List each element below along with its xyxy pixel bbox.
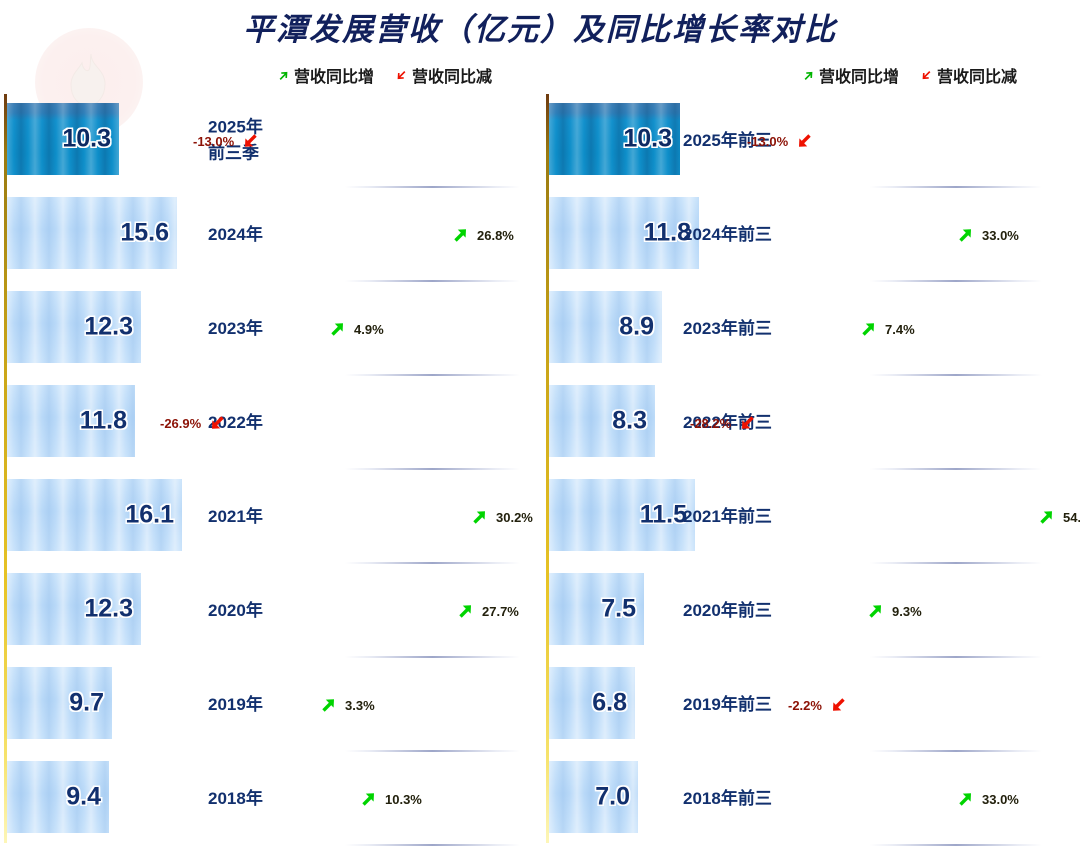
bar-value-label: 12.3: [84, 313, 133, 342]
growth-percent-label: 9.3%: [892, 604, 922, 619]
category-label-line1: 2024年: [208, 225, 263, 244]
rows-right: 10.32025年前三-13.0%11.82024年前三33.0%8.92023…: [520, 94, 1080, 843]
growth-marker: 9.3%: [865, 601, 922, 621]
arrow-up-right-green-icon: [450, 225, 470, 245]
arrow-up-right-green-icon: [278, 70, 289, 81]
category-label: 2021年前三: [683, 504, 772, 530]
category-label: 2018年: [208, 786, 263, 812]
chart-row: 11.82024年前三33.0%: [520, 188, 1080, 282]
arrow-down-left-red-icon: [396, 70, 407, 81]
growth-percent-label: 27.7%: [482, 604, 519, 619]
arrow-up-right-green-icon: [858, 319, 878, 339]
bar-value-label: 6.8: [592, 689, 627, 718]
category-label: 2023年前三: [683, 316, 772, 342]
chart-row: 9.72019年3.3%: [0, 658, 520, 752]
value-bar: 11.8: [549, 197, 699, 269]
chart-row: 12.32023年4.9%: [0, 282, 520, 376]
arrow-down-left-red-icon: [208, 413, 228, 433]
value-bar: 8.3: [549, 385, 655, 457]
category-label: 2023年: [208, 316, 263, 342]
growth-marker: 3.3%: [318, 695, 375, 715]
chart-row: 7.52020年前三9.3%: [520, 564, 1080, 658]
chart-row: 12.32020年27.7%: [0, 564, 520, 658]
bar-value-label: 16.1: [125, 501, 174, 530]
arrow-up-right-green-icon: [358, 789, 378, 809]
arrow-up-right-green-icon: [955, 789, 975, 809]
category-label: 2020年前三: [683, 598, 772, 624]
chart-row: 11.82022年-26.9%: [0, 376, 520, 470]
value-bar: 16.1: [7, 479, 182, 551]
bar-value-label: 9.7: [69, 689, 104, 718]
category-label-line1: 2019年前三: [683, 695, 772, 714]
chart-row: 9.42018年10.3%: [0, 752, 520, 846]
panel-annual: 营收同比增 营收同比减 10.32025年前三季-13.0%15.62024年2…: [0, 56, 520, 843]
value-bar: 11.8: [7, 385, 135, 457]
arrow-down-left-red-icon: [738, 413, 758, 433]
category-label-line1: 2020年: [208, 601, 263, 620]
bar-value-label: 11.8: [80, 407, 127, 436]
bar-value-label: 9.4: [66, 783, 101, 812]
legend-label-up: 营收同比增: [294, 63, 374, 87]
chart-row: 8.32022年前三-28.2%: [520, 376, 1080, 470]
arrow-up-right-green-icon: [865, 601, 885, 621]
growth-percent-label: -13.0%: [747, 134, 788, 149]
legend-left: 营收同比增 营收同比减: [278, 56, 492, 94]
value-bar: 9.7: [7, 667, 112, 739]
bar-value-label: 11.5: [640, 501, 687, 530]
growth-marker: 33.0%: [955, 225, 1019, 245]
category-label-line1: 2021年: [208, 507, 263, 526]
arrow-down-left-red-icon: [921, 70, 932, 81]
page-title: 平潭发展营收（亿元）及同比增长率对比: [0, 4, 1080, 49]
legend-label-up: 营收同比增: [819, 63, 899, 87]
arrow-up-right-green-icon: [455, 601, 475, 621]
arrow-down-left-red-icon: [241, 131, 261, 151]
arrow-up-right-green-icon: [1036, 507, 1056, 527]
value-bar: 12.3: [7, 291, 141, 363]
legend-label-down: 营收同比减: [412, 63, 492, 87]
growth-percent-label: -2.2%: [788, 698, 822, 713]
growth-marker: 4.9%: [327, 319, 384, 339]
arrow-up-right-green-icon: [955, 225, 975, 245]
axis-line-right: [546, 94, 549, 843]
chart-row: 10.32025年前三-13.0%: [520, 94, 1080, 188]
bar-value-label: 10.3: [623, 125, 672, 154]
category-label: 2024年前三: [683, 222, 772, 248]
panel-first-three-quarters: 营收同比增 营收同比减 10.32025年前三-13.0%11.82024年前三…: [520, 56, 1080, 843]
legend-label-down: 营收同比减: [937, 63, 1017, 87]
growth-percent-label: 7.4%: [885, 322, 915, 337]
category-label-line1: 2019年: [208, 695, 263, 714]
rows-left: 10.32025年前三季-13.0%15.62024年26.8%12.32023…: [0, 94, 520, 843]
bar-value-label: 7.5: [601, 595, 636, 624]
chart-row: 7.02018年前三33.0%: [520, 752, 1080, 846]
chart-row: 10.32025年前三季-13.0%: [0, 94, 520, 188]
bar-value-label: 15.6: [120, 219, 169, 248]
legend-item-down: 营收同比减: [921, 63, 1017, 87]
legend-item-down: 营收同比减: [396, 63, 492, 87]
arrow-up-right-green-icon: [318, 695, 338, 715]
legend-item-up: 营收同比增: [278, 63, 374, 87]
value-bar: 15.6: [7, 197, 177, 269]
growth-marker: -2.2%: [788, 695, 849, 715]
growth-percent-label: 3.3%: [345, 698, 375, 713]
growth-marker: -13.0%: [747, 131, 815, 151]
chart-row: 16.12021年30.2%: [0, 470, 520, 564]
value-bar: 9.4: [7, 761, 109, 833]
growth-marker: -28.2%: [690, 413, 758, 433]
value-bar: 8.9: [549, 291, 662, 363]
value-bar: 7.0: [549, 761, 638, 833]
arrow-down-left-red-icon: [829, 695, 849, 715]
legend-item-up: 营收同比增: [803, 63, 899, 87]
value-bar: 10.3: [7, 103, 119, 175]
growth-percent-label: 10.3%: [385, 792, 422, 807]
category-label-line1: 2018年: [208, 789, 263, 808]
growth-marker: 27.7%: [455, 601, 519, 621]
value-bar: 12.3: [7, 573, 141, 645]
growth-percent-label: -26.9%: [160, 416, 201, 431]
category-label: 2024年: [208, 222, 263, 248]
growth-marker: 10.3%: [358, 789, 422, 809]
arrow-down-left-red-icon: [795, 131, 815, 151]
bar-value-label: 10.3: [62, 125, 111, 154]
chart-panels: 营收同比增 营收同比减 10.32025年前三季-13.0%15.62024年2…: [0, 56, 1080, 843]
bar-value-label: 8.9: [619, 313, 654, 342]
bar-value-label: 12.3: [84, 595, 133, 624]
growth-marker: 26.8%: [450, 225, 514, 245]
value-bar: 10.3: [549, 103, 680, 175]
growth-percent-label: -13.0%: [193, 134, 234, 149]
category-label: 2020年: [208, 598, 263, 624]
chart-row: 15.62024年26.8%: [0, 188, 520, 282]
arrow-up-right-green-icon: [327, 319, 347, 339]
chart-row: 6.82019年前三-2.2%: [520, 658, 1080, 752]
growth-percent-label: 54.3%: [1063, 510, 1080, 525]
value-bar: 11.5: [549, 479, 695, 551]
category-label: 2018年前三: [683, 786, 772, 812]
chart-row: 11.52021年前三54.3%: [520, 470, 1080, 564]
growth-percent-label: 33.0%: [982, 792, 1019, 807]
growth-percent-label: 33.0%: [982, 228, 1019, 243]
growth-marker: 7.4%: [858, 319, 915, 339]
category-label: 2019年: [208, 692, 263, 718]
growth-marker: 33.0%: [955, 789, 1019, 809]
chart-row: 8.92023年前三7.4%: [520, 282, 1080, 376]
category-label-line1: 2024年前三: [683, 225, 772, 244]
growth-marker: -13.0%: [193, 131, 261, 151]
category-label-line1: 2020年前三: [683, 601, 772, 620]
axis-line-left: [4, 94, 7, 843]
bar-value-label: 7.0: [595, 783, 630, 812]
arrow-up-right-green-icon: [803, 70, 814, 81]
category-label-line1: 2023年前三: [683, 319, 772, 338]
growth-percent-label: 4.9%: [354, 322, 384, 337]
growth-percent-label: -28.2%: [690, 416, 731, 431]
category-label-line1: 2018年前三: [683, 789, 772, 808]
arrow-up-right-green-icon: [469, 507, 489, 527]
growth-marker: -26.9%: [160, 413, 228, 433]
legend-right: 营收同比增 营收同比减: [803, 56, 1017, 94]
growth-marker: 54.3%: [1036, 507, 1080, 527]
value-bar: 6.8: [549, 667, 635, 739]
bar-value-label: 8.3: [612, 407, 647, 436]
category-label: 2021年: [208, 504, 263, 530]
category-label-line1: 2023年: [208, 319, 263, 338]
growth-percent-label: 26.8%: [477, 228, 514, 243]
category-label: 2019年前三: [683, 692, 772, 718]
value-bar: 7.5: [549, 573, 644, 645]
category-label-line1: 2021年前三: [683, 507, 772, 526]
